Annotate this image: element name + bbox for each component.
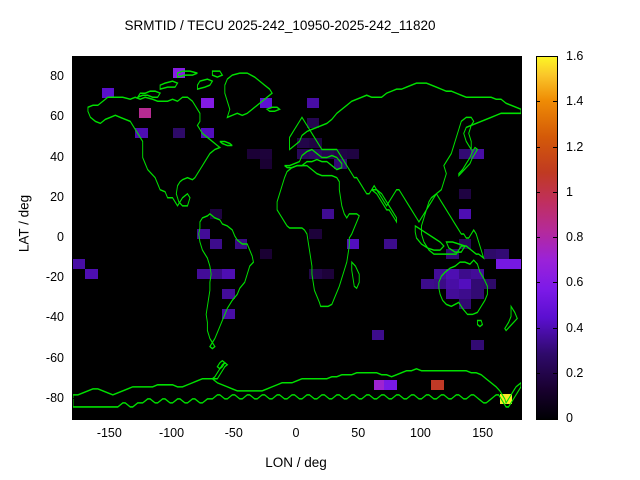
- colorbar-tick-label: 0.2: [566, 366, 583, 380]
- colorbar[interactable]: [536, 56, 558, 420]
- heatmap-cell: [235, 239, 247, 249]
- heatmap-cell: [260, 159, 272, 169]
- heatmap-cell: [459, 289, 471, 299]
- y-tick-label: -40: [24, 310, 64, 324]
- heatmap-cell: [509, 259, 521, 269]
- heatmap-cell: [471, 279, 483, 289]
- heatmap-cell: [197, 229, 209, 239]
- y-tick-label: 60: [24, 109, 64, 123]
- heatmap-cell: [347, 149, 359, 159]
- heatmap-cell: [431, 380, 443, 390]
- colorbar-tick-label: 1.6: [566, 49, 583, 63]
- heatmap-cell: [471, 289, 483, 299]
- heatmap-cell: [297, 138, 309, 148]
- y-tick-label: 80: [24, 69, 64, 83]
- heatmap-cell: [446, 269, 458, 279]
- heatmap-cell: [459, 209, 471, 219]
- colorbar-tick-mark: [536, 56, 540, 57]
- heatmap-cell: [85, 269, 97, 279]
- y-tick-mark: [72, 317, 76, 318]
- y-tick-mark: [72, 116, 76, 117]
- x-tick-label: 0: [293, 426, 300, 440]
- colorbar-tick-mark: [553, 101, 557, 102]
- colorbar-tick-mark: [553, 192, 557, 193]
- colorbar-tick-label: 0: [566, 411, 573, 425]
- heatmap-cell: [372, 330, 384, 340]
- heatmap-cell: [309, 149, 321, 159]
- y-tick-mark: [72, 76, 76, 77]
- y-tick-mark: [72, 237, 76, 238]
- colorbar-tick-mark: [553, 282, 557, 283]
- x-tick-label: 100: [410, 426, 431, 440]
- chart-title: SRMTID / TECU 2025-242_10950-2025-242_11…: [0, 18, 560, 33]
- colorbar-tick-mark: [536, 328, 540, 329]
- x-tick-mark: [483, 414, 484, 418]
- colorbar-tick-label: 0.6: [566, 275, 583, 289]
- heatmap-cell: [384, 239, 396, 249]
- heatmap-cell: [260, 98, 272, 108]
- heatmap-cell: [446, 289, 458, 299]
- x-tick-mark: [358, 414, 359, 418]
- colorbar-tick-mark: [553, 237, 557, 238]
- heatmap-cell: [384, 380, 396, 390]
- x-tick-mark: [420, 414, 421, 418]
- colorbar-gradient: [537, 57, 557, 419]
- heatmap-cell: [446, 279, 458, 289]
- heatmap-cell: [434, 269, 446, 279]
- x-axis-label: LON / deg: [72, 455, 520, 470]
- colorbar-tick-mark: [553, 56, 557, 57]
- heatmap-cell: [307, 118, 319, 128]
- heatmap-cell: [434, 279, 446, 289]
- colorbar-tick-mark: [536, 101, 540, 102]
- colorbar-tick-label: 1: [566, 185, 573, 199]
- x-tick-label: -100: [159, 426, 184, 440]
- y-tick-mark: [72, 398, 76, 399]
- y-tick-mark: [72, 197, 76, 198]
- colorbar-tick-mark: [553, 328, 557, 329]
- colorbar-tick-mark: [536, 237, 540, 238]
- heatmap-cell: [471, 149, 483, 159]
- figure-canvas: SRMTID / TECU 2025-242_10950-2025-242_11…: [0, 0, 640, 480]
- x-tick-mark: [109, 414, 110, 418]
- x-tick-mark: [234, 414, 235, 418]
- x-tick-label: -50: [225, 426, 243, 440]
- x-tick-mark: [296, 414, 297, 418]
- heatmap-cell: [459, 149, 471, 159]
- heatmap-cell: [247, 149, 259, 159]
- colorbar-tick-label: 1.2: [566, 140, 583, 154]
- heatmap-cell: [322, 209, 334, 219]
- heatmap-cell: [201, 98, 213, 108]
- colorbar-tick-mark: [536, 418, 540, 419]
- heatmap-cell: [496, 249, 508, 259]
- heatmap-cell: [260, 249, 272, 259]
- x-tick-label: -150: [97, 426, 122, 440]
- heatmap-cell: [484, 249, 496, 259]
- colorbar-tick-mark: [553, 373, 557, 374]
- heatmap-cell: [459, 189, 471, 199]
- colorbar-tick-mark: [536, 192, 540, 193]
- y-tick-label: -80: [24, 391, 64, 405]
- heatmap-cell: [347, 239, 359, 249]
- heatmap-cell: [459, 269, 471, 279]
- heatmap-cell: [334, 149, 346, 159]
- map-plot-area[interactable]: [72, 56, 522, 420]
- heatmap-cell: [496, 259, 508, 269]
- heatmap-cell: [471, 340, 483, 350]
- heatmap-cell: [307, 98, 319, 108]
- y-axis-label: LAT / deg: [17, 164, 32, 284]
- heatmap-cell: [309, 138, 321, 148]
- heatmap-cell: [322, 149, 334, 159]
- heatmap-cell: [222, 309, 234, 319]
- colorbar-tick-mark: [536, 147, 540, 148]
- heatmap-cell: [210, 269, 222, 279]
- heatmap-cell: [135, 128, 147, 138]
- x-tick-label: 150: [472, 426, 493, 440]
- colorbar-tick-mark: [553, 418, 557, 419]
- heatmap-cell: [102, 88, 114, 98]
- colorbar-tick-mark: [553, 147, 557, 148]
- x-tick-mark: [172, 414, 173, 418]
- heatmap-cell: [210, 239, 222, 249]
- heatmap-cell: [173, 68, 185, 78]
- colorbar-tick-mark: [536, 373, 540, 374]
- heatmap-cell: [471, 269, 483, 279]
- heatmap-cell: [222, 269, 234, 279]
- x-tick-label: 50: [351, 426, 365, 440]
- heatmap-cell: [459, 279, 471, 289]
- heatmap-cell: [309, 229, 321, 239]
- y-tick-label: -60: [24, 351, 64, 365]
- heatmap-cell: [201, 128, 213, 138]
- heatmap-cell: [309, 269, 321, 279]
- y-tick-mark: [72, 358, 76, 359]
- colorbar-tick-mark: [536, 282, 540, 283]
- heatmap-cell: [446, 249, 458, 259]
- y-tick-mark: [72, 157, 76, 158]
- y-tick-label: 40: [24, 150, 64, 164]
- heatmap-cell: [334, 159, 346, 169]
- heatmap-cell: [222, 289, 234, 299]
- heatmap-cell: [322, 269, 334, 279]
- heatmap-cell: [260, 149, 272, 159]
- heatmap-cells-layer: [73, 57, 521, 419]
- heatmap-cell: [139, 108, 151, 118]
- heatmap-cell: [459, 239, 471, 249]
- heatmap-cell: [500, 394, 512, 404]
- heatmap-cell: [459, 299, 471, 309]
- heatmap-cell: [210, 209, 222, 219]
- heatmap-cell: [173, 128, 185, 138]
- heatmap-cell: [197, 269, 209, 279]
- colorbar-tick-label: 0.4: [566, 321, 583, 335]
- colorbar-tick-label: 0.8: [566, 230, 583, 244]
- heatmap-cell: [297, 149, 309, 159]
- heatmap-cell: [484, 279, 496, 289]
- colorbar-tick-label: 1.4: [566, 94, 583, 108]
- heatmap-cell: [73, 259, 85, 269]
- y-tick-mark: [72, 277, 76, 278]
- heatmap-cell: [421, 279, 433, 289]
